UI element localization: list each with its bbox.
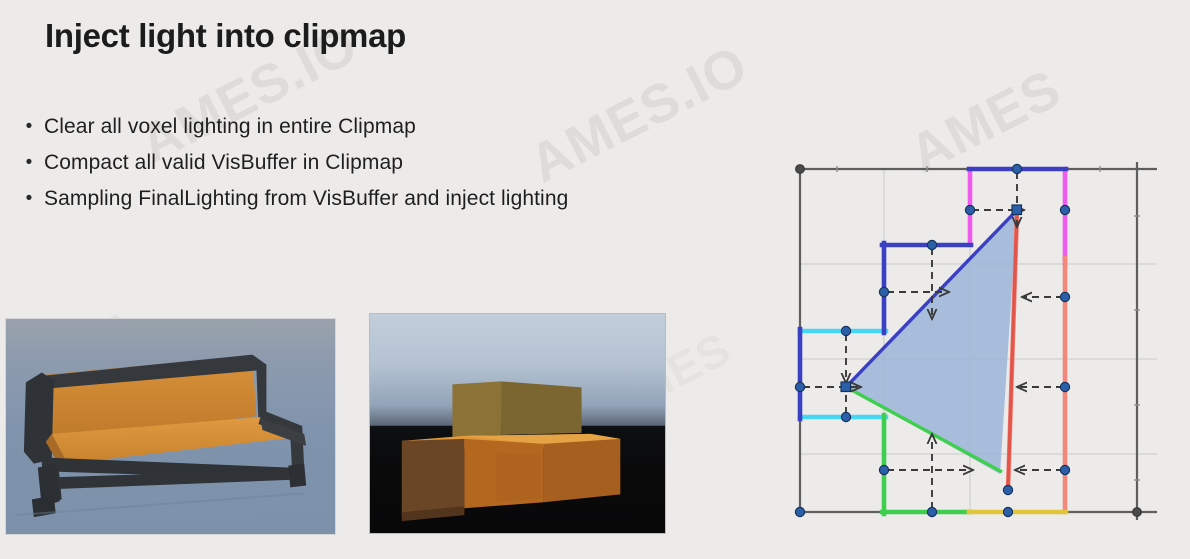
corner-node [1133, 508, 1142, 517]
node [879, 465, 888, 474]
bullet-marker-icon: • [14, 113, 44, 140]
list-item: • Sampling FinalLighting from VisBuffer … [14, 185, 754, 212]
node [841, 412, 850, 421]
node [1003, 485, 1012, 494]
node [879, 287, 888, 296]
voxel-bench-illustration [370, 314, 665, 533]
node [927, 240, 936, 249]
list-item: • Clear all voxel lighting in entire Cli… [14, 113, 754, 140]
node [1012, 164, 1021, 173]
node [795, 507, 804, 516]
node [1060, 465, 1069, 474]
node [1012, 205, 1022, 215]
corner-node [796, 165, 805, 174]
clipmap-diagram-svg [780, 140, 1180, 540]
figure-voxel-render [369, 313, 666, 534]
clipmap-diagram [780, 140, 1180, 540]
list-item-label: Sampling FinalLighting from VisBuffer an… [44, 185, 568, 212]
page-title: Inject light into clipmap [45, 17, 406, 55]
node [965, 205, 974, 214]
bullet-list: • Clear all voxel lighting in entire Cli… [14, 113, 754, 221]
list-item-label: Clear all voxel lighting in entire Clipm… [44, 113, 416, 140]
node [841, 326, 850, 335]
node [1060, 205, 1069, 214]
list-item-label: Compact all valid VisBuffer in Clipmap [44, 149, 403, 176]
bench-illustration [6, 319, 335, 534]
node [841, 382, 851, 392]
node [927, 507, 936, 516]
bullet-marker-icon: • [14, 185, 44, 212]
node [1060, 292, 1069, 301]
node [795, 382, 804, 391]
node [1003, 507, 1012, 516]
list-item: • Compact all valid VisBuffer in Clipmap [14, 149, 754, 176]
slide-root: AMES.IO AMES.IO AMES GA GAMES Inject lig… [0, 0, 1190, 559]
node [1060, 382, 1069, 391]
figure-bench-render [5, 318, 336, 535]
bullet-marker-icon: • [14, 149, 44, 176]
